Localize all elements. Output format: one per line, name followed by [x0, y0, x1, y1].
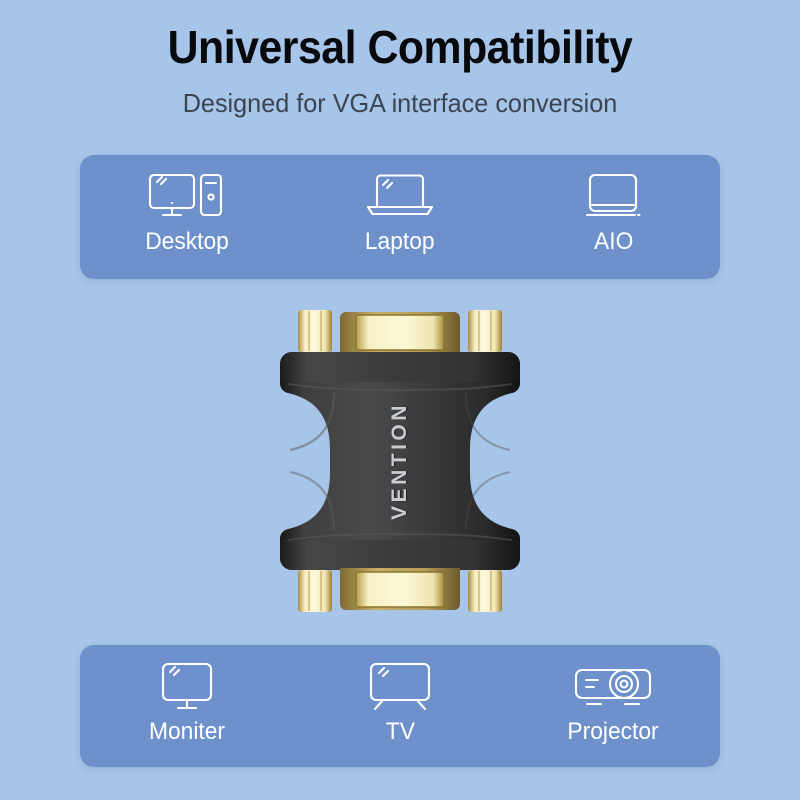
page-title: Universal Compatibility — [28, 20, 772, 74]
header: Universal Compatibility Designed for VGA… — [0, 0, 800, 119]
device-item-tv[interactable]: TV — [293, 645, 506, 767]
device-label: TV — [385, 718, 414, 746]
monitor-icon — [154, 658, 220, 714]
compatible-devices-panel-top: Desktop Laptop AI — [80, 155, 720, 279]
projector-icon — [572, 658, 654, 714]
compatible-devices-panel-bottom: Moniter TV — [80, 645, 720, 767]
vga-adapter-illustration — [270, 296, 530, 626]
device-item-monitor[interactable]: Moniter — [80, 645, 293, 767]
device-label: Laptop — [365, 228, 435, 256]
device-label: AIO — [594, 228, 633, 256]
page-subtitle: Designed for VGA interface conversion — [12, 88, 788, 119]
device-item-aio[interactable]: AIO — [507, 155, 720, 279]
tv-icon — [364, 658, 436, 714]
aio-icon — [580, 168, 646, 224]
device-label: Desktop — [145, 228, 229, 256]
desktop-icon — [147, 168, 227, 224]
device-label: Projector — [568, 718, 659, 746]
product-image-vga-adapter: VENTION — [0, 296, 800, 626]
device-item-desktop[interactable]: Desktop — [80, 155, 293, 279]
device-label: Moniter — [149, 718, 225, 746]
laptop-icon — [364, 168, 436, 224]
device-item-projector[interactable]: Projector — [507, 645, 720, 767]
device-item-laptop[interactable]: Laptop — [293, 155, 506, 279]
